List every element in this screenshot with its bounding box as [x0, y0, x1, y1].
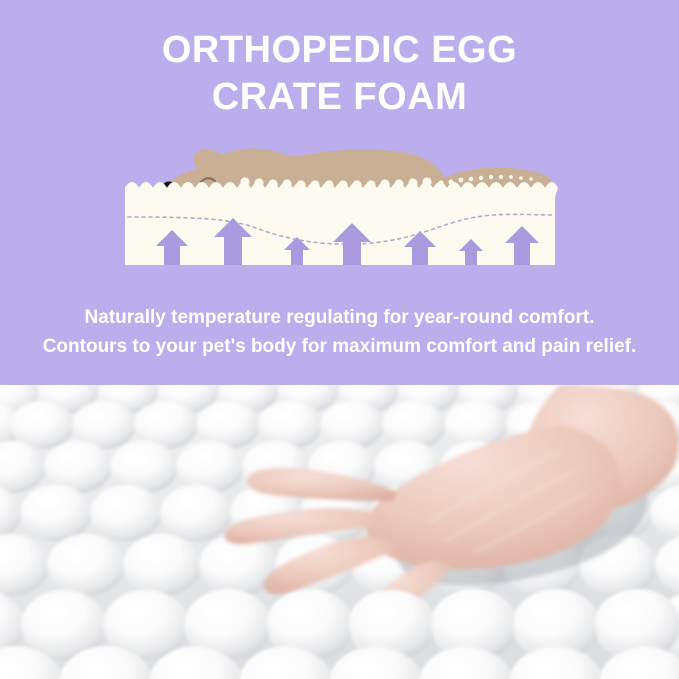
dog-on-foam-illustration: [0, 125, 679, 275]
subcopy-line-2: Contours to your pet's body for maximum …: [0, 332, 679, 361]
feature-description: Naturally temperature regulating for yea…: [0, 303, 679, 361]
headline-line-1: ORTHOPEDIC EGG: [0, 27, 679, 74]
foam-photo: [0, 385, 679, 679]
headline-line-2: CRATE FOAM: [0, 74, 679, 121]
subcopy-line-1: Naturally temperature regulating for yea…: [0, 303, 679, 332]
foam-mattress: [125, 182, 558, 270]
page-title: ORTHOPEDIC EGG CRATE FOAM: [0, 27, 679, 121]
product-infographic: ORTHOPEDIC EGG CRATE FOAM: [0, 0, 679, 679]
feature-panel: ORTHOPEDIC EGG CRATE FOAM: [0, 0, 679, 385]
